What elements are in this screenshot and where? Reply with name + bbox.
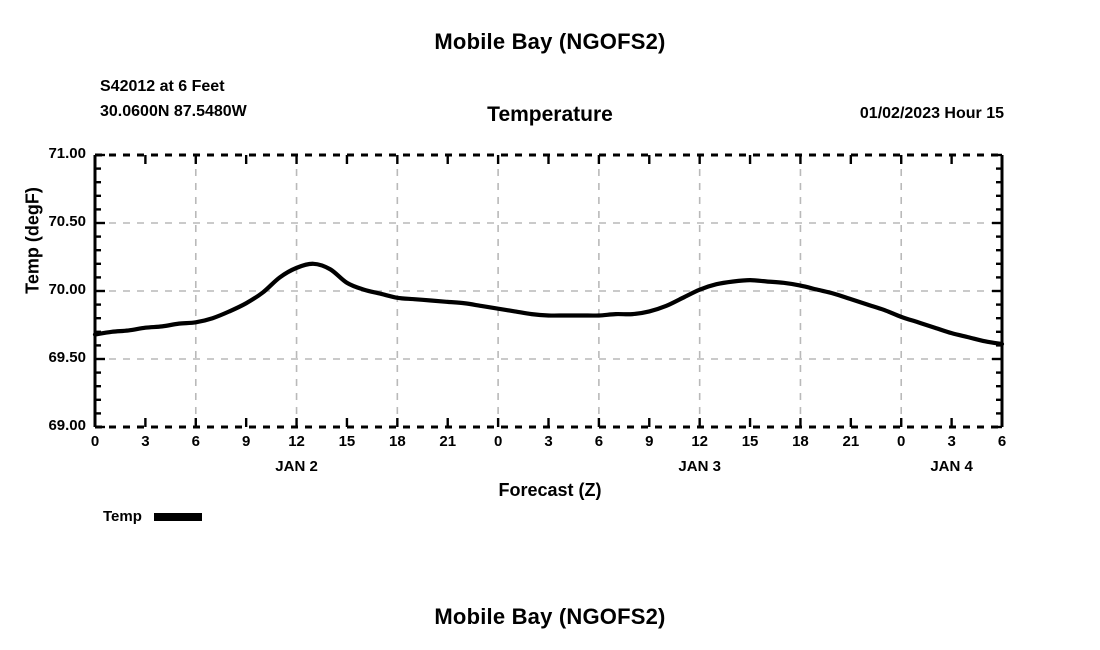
footer-title: Mobile Bay (NGOFS2) — [0, 604, 1100, 630]
legend-swatch-temp — [154, 513, 202, 521]
legend: Temp — [103, 508, 202, 525]
chart-canvas: Mobile Bay (NGOFS2) S42012 at 6 Feet 30.… — [0, 0, 1100, 650]
plot-area — [0, 0, 1100, 650]
legend-label-temp: Temp — [103, 508, 142, 525]
series-line-temp — [95, 264, 1002, 344]
